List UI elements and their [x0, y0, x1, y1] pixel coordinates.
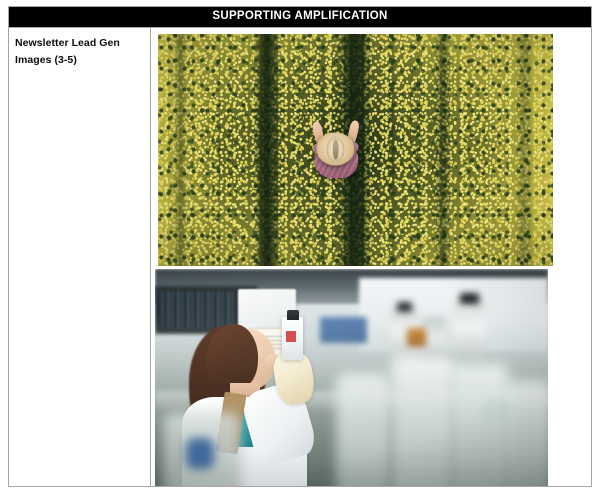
amber-reagent-bottle — [407, 328, 427, 348]
foreground-glassware — [450, 364, 509, 486]
soil-track — [174, 34, 187, 266]
soil-track — [517, 34, 530, 266]
page-title: SUPPORTING AMPLIFICATION — [212, 11, 387, 23]
vial-cap — [287, 310, 299, 321]
foreground-blue-blur — [186, 438, 214, 468]
flower-field-scene — [158, 34, 553, 266]
supporting-amplification-table: SUPPORTING AMPLIFICATION Newsletter Lead… — [8, 6, 592, 487]
background-bottle — [454, 299, 485, 366]
row-media-cell — [151, 28, 591, 486]
row-label: Newsletter Lead Gen Images (3-5) — [15, 35, 144, 69]
foreground-glassware — [391, 356, 454, 486]
row-label-cell: Newsletter Lead Gen Images (3-5) — [9, 28, 151, 486]
person-in-field — [306, 115, 365, 185]
document-page: SUPPORTING AMPLIFICATION Newsletter Lead… — [0, 0, 600, 494]
bottle-cap — [460, 293, 480, 304]
scientist-hair-front — [206, 324, 258, 388]
laboratory-scientist-photo — [155, 269, 548, 486]
aerial-flower-field-photo — [158, 34, 553, 266]
table-body-row: Newsletter Lead Gen Images (3-5) — [9, 28, 591, 486]
foreground-glassware — [336, 373, 391, 486]
foreground-glassware — [501, 380, 548, 486]
table-header-row: SUPPORTING AMPLIFICATION — [9, 7, 591, 28]
vial-red-label — [286, 331, 296, 342]
soil-track — [255, 34, 279, 266]
bottle-cap — [397, 302, 413, 313]
laboratory-scene — [155, 269, 548, 486]
soil-track — [435, 34, 451, 266]
